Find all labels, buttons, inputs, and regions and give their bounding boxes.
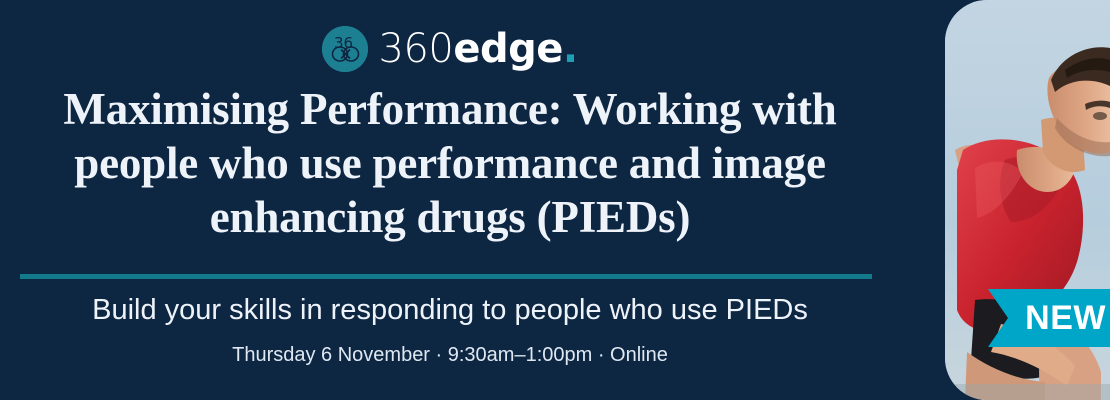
brand-logo[interactable]: 36 360edge. bbox=[322, 26, 577, 72]
wordmark-edge: edge bbox=[453, 26, 563, 72]
page-title: Maximising Performance: Working with peo… bbox=[0, 82, 900, 244]
svg-text:36: 36 bbox=[334, 34, 353, 52]
headline-line-1: Maximising Performance: Working with bbox=[0, 82, 900, 136]
new-badge-label: NEW bbox=[1025, 301, 1106, 335]
brand-wordmark: 360edge. bbox=[378, 29, 577, 69]
headline-line-2: people who use performance and image bbox=[0, 136, 900, 190]
360-circle-emblem-icon: 36 bbox=[322, 26, 368, 72]
subtitle: Build your skills in responding to peopl… bbox=[0, 292, 900, 328]
event-promo-banner: 36 360edge. Maximising Performance: Work… bbox=[0, 0, 1110, 400]
divider bbox=[20, 274, 872, 279]
event-details: Thursday 6 November · 9:30am–1:00pm · On… bbox=[0, 342, 900, 368]
banner-content: 36 360edge. Maximising Performance: Work… bbox=[0, 0, 900, 400]
headline-line-3: enhancing drugs (PIEDs) bbox=[0, 190, 900, 244]
wordmark-dot: . bbox=[563, 26, 578, 72]
wordmark-360: 360 bbox=[378, 26, 453, 72]
